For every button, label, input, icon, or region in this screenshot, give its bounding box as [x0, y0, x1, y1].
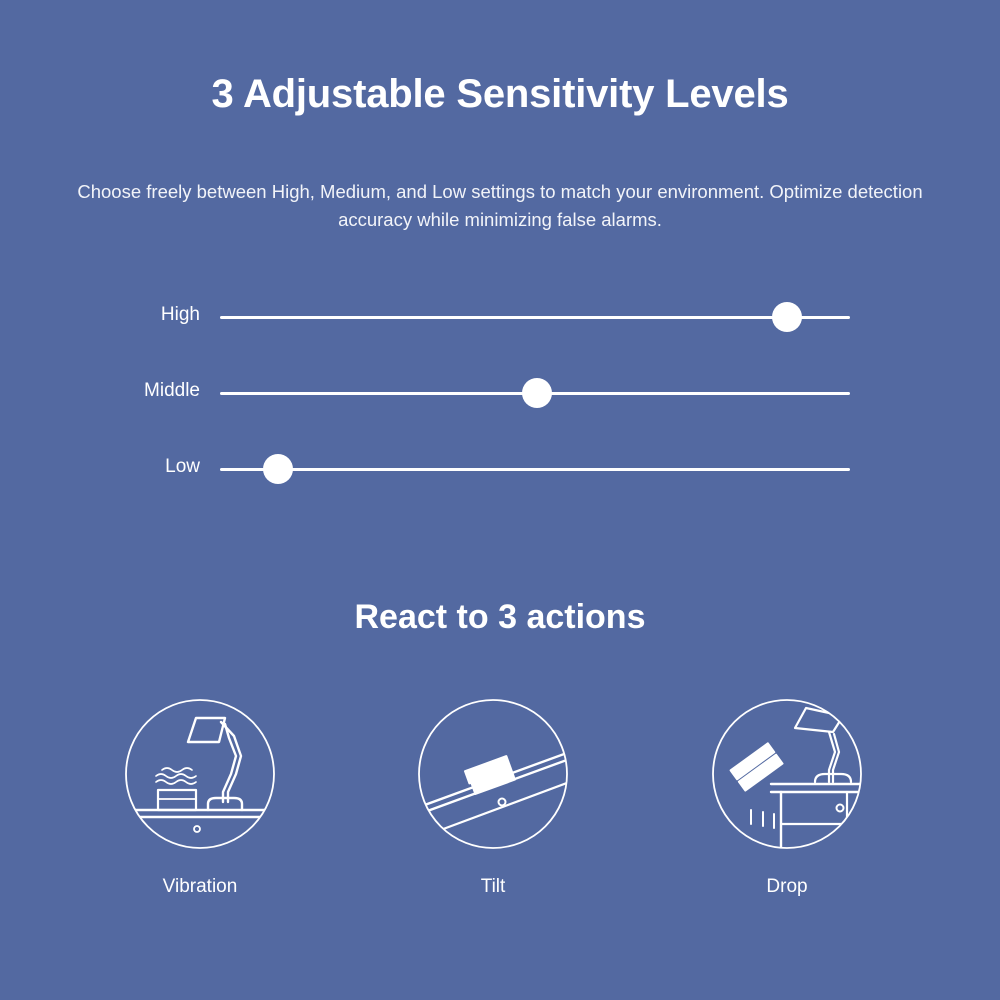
- slider-label-low: Low: [60, 456, 200, 478]
- action-item-tilt[interactable]: Tilt: [393, 698, 593, 898]
- tilt-icon: [417, 698, 569, 850]
- page-subtitle: Choose freely between High, Medium, and …: [70, 178, 930, 234]
- slider-label-middle: Middle: [60, 380, 200, 402]
- slider-knob-middle[interactable]: [522, 378, 552, 408]
- action-label-drop: Drop: [687, 876, 887, 898]
- slider-row-middle[interactable]: Middle: [0, 373, 1000, 413]
- actions-icon-row: Vibration: [0, 698, 1000, 928]
- sensitivity-slider-group: High Middle Low: [0, 290, 1000, 500]
- action-label-vibration: Vibration: [100, 876, 300, 898]
- subtitle-line-1: Choose freely between High, Medium, and …: [77, 181, 764, 202]
- action-item-vibration[interactable]: Vibration: [100, 698, 300, 898]
- slider-track-high[interactable]: [220, 316, 850, 319]
- vibration-icon: [124, 698, 276, 850]
- page-title: 3 Adjustable Sensitivity Levels: [0, 72, 1000, 117]
- slider-row-low[interactable]: Low: [0, 449, 1000, 489]
- slider-knob-high[interactable]: [772, 302, 802, 332]
- action-label-tilt: Tilt: [393, 876, 593, 898]
- drop-icon: [711, 698, 863, 850]
- slider-label-high: High: [60, 304, 200, 326]
- action-item-drop[interactable]: Drop: [687, 698, 887, 898]
- slider-knob-low[interactable]: [263, 454, 293, 484]
- slider-row-high[interactable]: High: [0, 297, 1000, 337]
- actions-section-heading: React to 3 actions: [0, 598, 1000, 637]
- slider-track-low[interactable]: [220, 468, 850, 471]
